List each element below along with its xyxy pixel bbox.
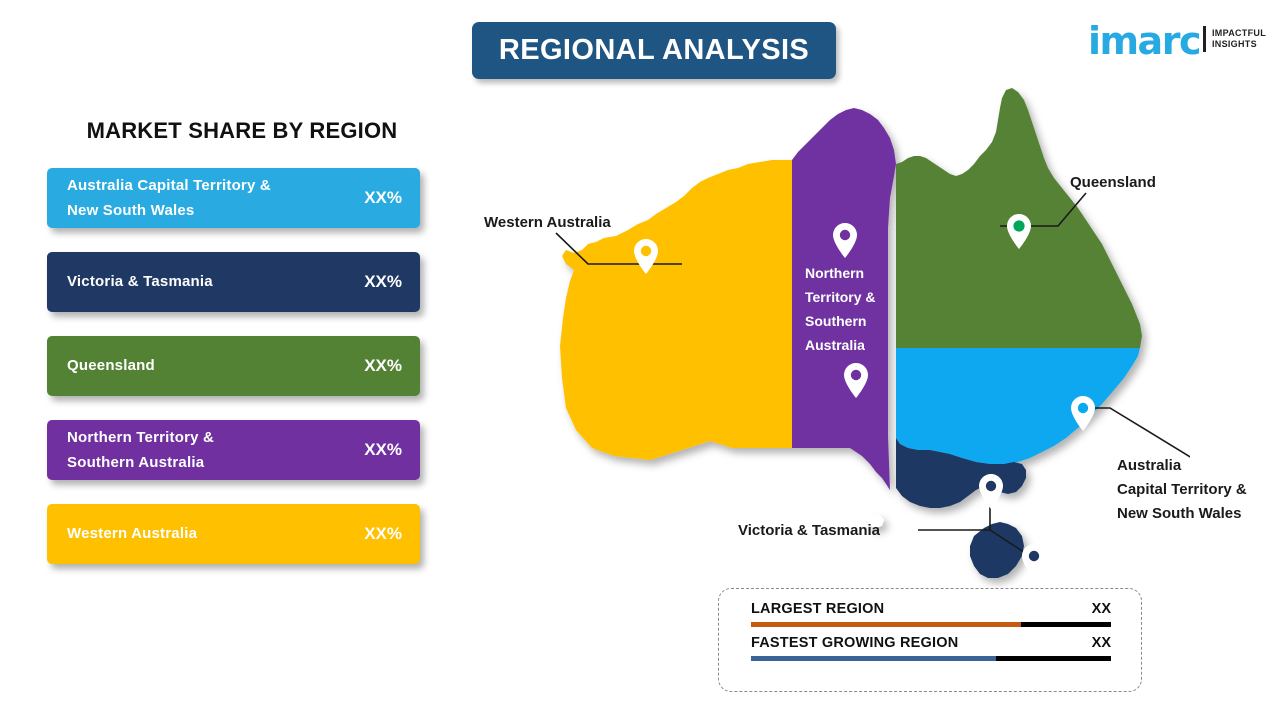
map-label-western-australia: Western Australia: [484, 211, 611, 235]
share-bar-northern-southern[interactable]: Northern Territory & Southern Australia …: [47, 420, 420, 480]
page-title: REGIONAL ANALYSIS: [499, 34, 809, 67]
share-bar-label: Victoria & Tasmania: [67, 269, 213, 295]
share-bar-label: Australia Capital Territory & New South …: [67, 173, 271, 224]
region-legend-box: LARGEST REGION XX FASTEST GROWING REGION…: [718, 588, 1142, 692]
market-share-panel: MARKET SHARE BY REGION Australia Capital…: [47, 118, 437, 588]
share-bar-label: Queensland: [67, 353, 155, 379]
legend-progress-fill: [751, 656, 996, 661]
legend-value: XX: [1092, 601, 1111, 617]
share-bar-label: Western Australia: [67, 521, 197, 547]
share-bar-value: XX%: [364, 356, 402, 376]
map-pin-victoria[interactable]: [979, 474, 1003, 509]
map-region-act-nsw: [896, 348, 1140, 464]
map-label-queensland: Queensland: [1070, 171, 1156, 195]
map-region-western-australia: [560, 160, 792, 460]
share-bar-queensland[interactable]: Queensland XX%: [47, 336, 420, 396]
share-bar-victoria-tasmania[interactable]: Victoria & Tasmania XX%: [47, 252, 420, 312]
share-bar-value: XX%: [364, 440, 402, 460]
legend-row-fastest-growing-region: FASTEST GROWING REGION XX: [751, 635, 1111, 661]
share-bar-western-australia[interactable]: Western Australia XX%: [47, 504, 420, 564]
legend-label: FASTEST GROWING REGION: [751, 635, 958, 651]
legend-label: LARGEST REGION: [751, 601, 884, 617]
legend-progress-track: [751, 622, 1111, 627]
share-bar-label: Northern Territory & Southern Australia: [67, 425, 214, 476]
map-label-victoria-tasmania: Victoria & Tasmania: [738, 519, 880, 543]
page-title-banner: REGIONAL ANALYSIS: [472, 22, 836, 79]
leader-line-act-nsw: [1082, 408, 1190, 458]
share-bar-value: XX%: [364, 272, 402, 292]
legend-value: XX: [1092, 635, 1111, 651]
logo-tagline: IMPACTFUL INSIGHTS: [1212, 28, 1266, 50]
legend-progress-fill: [751, 622, 1021, 627]
map-label-act-nsw: Australia Capital Territory & New South …: [1117, 454, 1247, 526]
share-bar-value: XX%: [364, 524, 402, 544]
market-share-heading: MARKET SHARE BY REGION: [47, 118, 437, 144]
logo-tagline-line2: INSIGHTS: [1212, 39, 1266, 50]
map-label-northern-territory: Northern Territory & Southern Australia: [805, 261, 876, 357]
share-bar-value: XX%: [364, 188, 402, 208]
map-pin-tasmania[interactable]: [1022, 544, 1046, 579]
logo-separator: [1203, 26, 1206, 52]
logo-tagline-line1: IMPACTFUL: [1212, 28, 1266, 39]
imarc-wordmark: imarc: [1088, 22, 1200, 60]
legend-progress-track: [751, 656, 1111, 661]
imarc-logo: imarc IMPACTFUL INSIGHTS: [1088, 18, 1266, 60]
legend-row-largest-region: LARGEST REGION XX: [751, 601, 1111, 627]
share-bar-act-nsw[interactable]: Australia Capital Territory & New South …: [47, 168, 420, 228]
